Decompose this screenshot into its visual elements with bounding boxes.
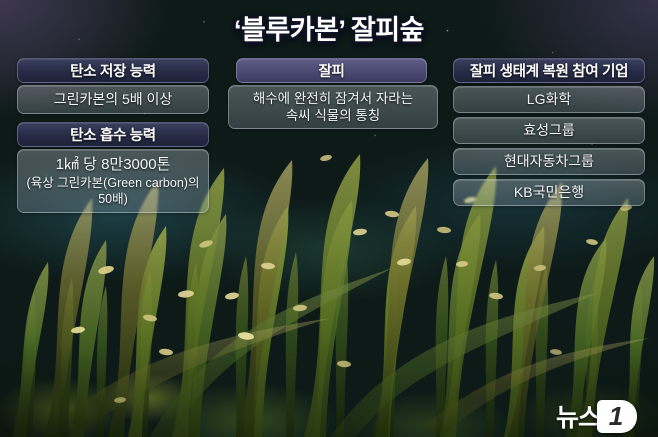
definition-line-1: 해수에 완전히 잠겨서 자라는	[253, 90, 413, 107]
logo-mark-digit: 1	[609, 403, 623, 429]
company-item: 현대자동차그룹	[453, 148, 645, 175]
absorption-line-3: 50배)	[98, 191, 128, 207]
logo-mark-badge: 1	[597, 400, 637, 433]
company-item: 효성그룹	[453, 117, 645, 144]
carbon-storage-value: 그린카본의 5배 이상	[17, 85, 209, 114]
participating-companies-header: 잘피 생태계 복원 참여 기업	[453, 58, 645, 83]
seagrass-definition-text: 해수에 완전히 잠겨서 자라는 속씨 식물의 통칭	[228, 85, 438, 129]
company-item: LG화학	[453, 86, 645, 113]
carbon-storage-header: 탄소 저장 능력	[17, 58, 209, 83]
news1-logo: 뉴스 1	[556, 398, 637, 434]
company-item: KB국민은행	[453, 179, 645, 206]
carbon-absorption-header: 탄소 흡수 능력	[17, 122, 209, 147]
carbon-absorption-value: 1㎢ 당 8만3000톤 (육상 그린카본(Green carbon)의 50배…	[17, 149, 209, 213]
absorption-line-1: 1㎢ 당 8만3000톤	[56, 155, 171, 174]
definition-line-2: 속씨 식물의 통칭	[286, 107, 380, 124]
infographic-canvas: ‘블루카본’ 잘피숲 탄소 저장 능력 그린카본의 5배 이상 탄소 흡수 능력…	[0, 0, 658, 437]
logo-text: 뉴스	[556, 398, 600, 434]
absorption-line-2: (육상 그린카본(Green carbon)의	[27, 175, 200, 191]
page-title: ‘블루카본’ 잘피숲	[0, 8, 658, 47]
seagrass-definition-header: 잘피	[236, 58, 427, 83]
